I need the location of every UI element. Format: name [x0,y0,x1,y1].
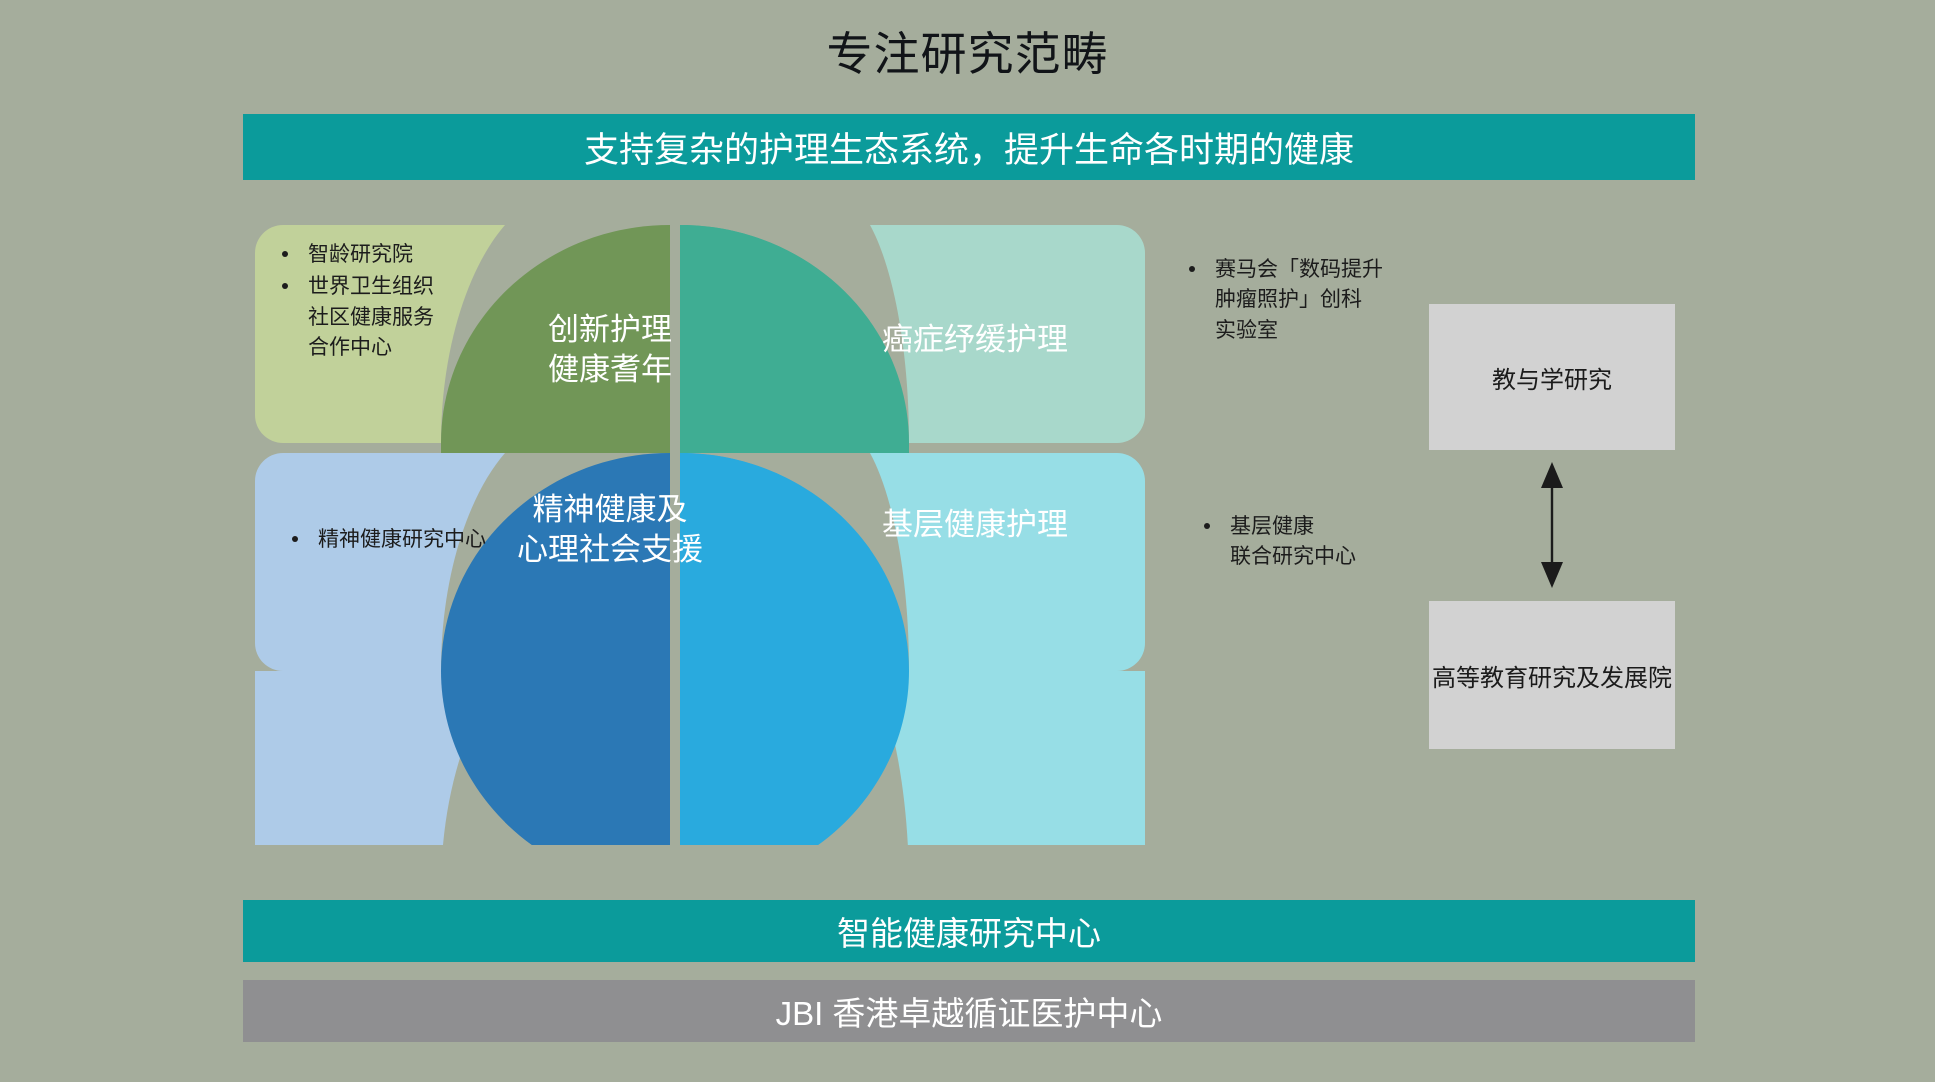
core-tl-lower [441,443,670,453]
list-mental-health: 精神健康研究中心 [288,525,538,557]
box-teaching-learning-research-label: 教与学研究 [1492,360,1612,395]
panel-br-tail [870,671,1145,845]
panel-br [870,453,1145,671]
top-banner: 支持复杂的护理生态系统，提升生命各时期的健康 [243,114,1695,180]
box-higher-education-rd: 高等教育研究及发展院 [1429,601,1675,749]
list-primary-health-care: 基层健康 联合研究中心 [1200,512,1440,575]
bottom-teal-banner: 智能健康研究中心 [243,900,1695,962]
bottom-teal-banner-label: 智能健康研究中心 [837,907,1101,955]
page-title: 专注研究范畴 [0,18,1935,84]
core-tr-lower [680,443,909,453]
slide-canvas: 专注研究范畴 支持复杂的护理生态系统，提升生命各时期的健康 [0,0,1935,1082]
list-item: 基层健康 联合研究中心 [1200,512,1440,573]
box-teaching-learning-research: 教与学研究 [1429,304,1675,450]
box-higher-education-rd-label: 高等教育研究及发展院 [1432,658,1672,693]
list-innovative-care: 智龄研究院 世界卫生组织 社区健康服务 合作中心 [278,240,498,366]
list-item: 赛马会「数码提升 肿瘤照护」创科 实验室 [1185,255,1435,346]
list-item: 世界卫生组织 社区健康服务 合作中心 [278,272,498,363]
list-item: 智龄研究院 [278,240,498,270]
double-headed-arrow-icon [1530,462,1574,588]
panel-tr [870,225,1145,443]
top-banner-label: 支持复杂的护理生态系统，提升生命各时期的健康 [584,122,1354,173]
bottom-grey-banner-label: JBI 香港卓越循证医护中心 [776,987,1163,1035]
bottom-grey-banner: JBI 香港卓越循证医护中心 [243,980,1695,1042]
list-item: 精神健康研究中心 [288,525,538,555]
list-cancer-palliative-care: 赛马会「数码提升 肿瘤照护」创科 实验室 [1185,255,1435,348]
